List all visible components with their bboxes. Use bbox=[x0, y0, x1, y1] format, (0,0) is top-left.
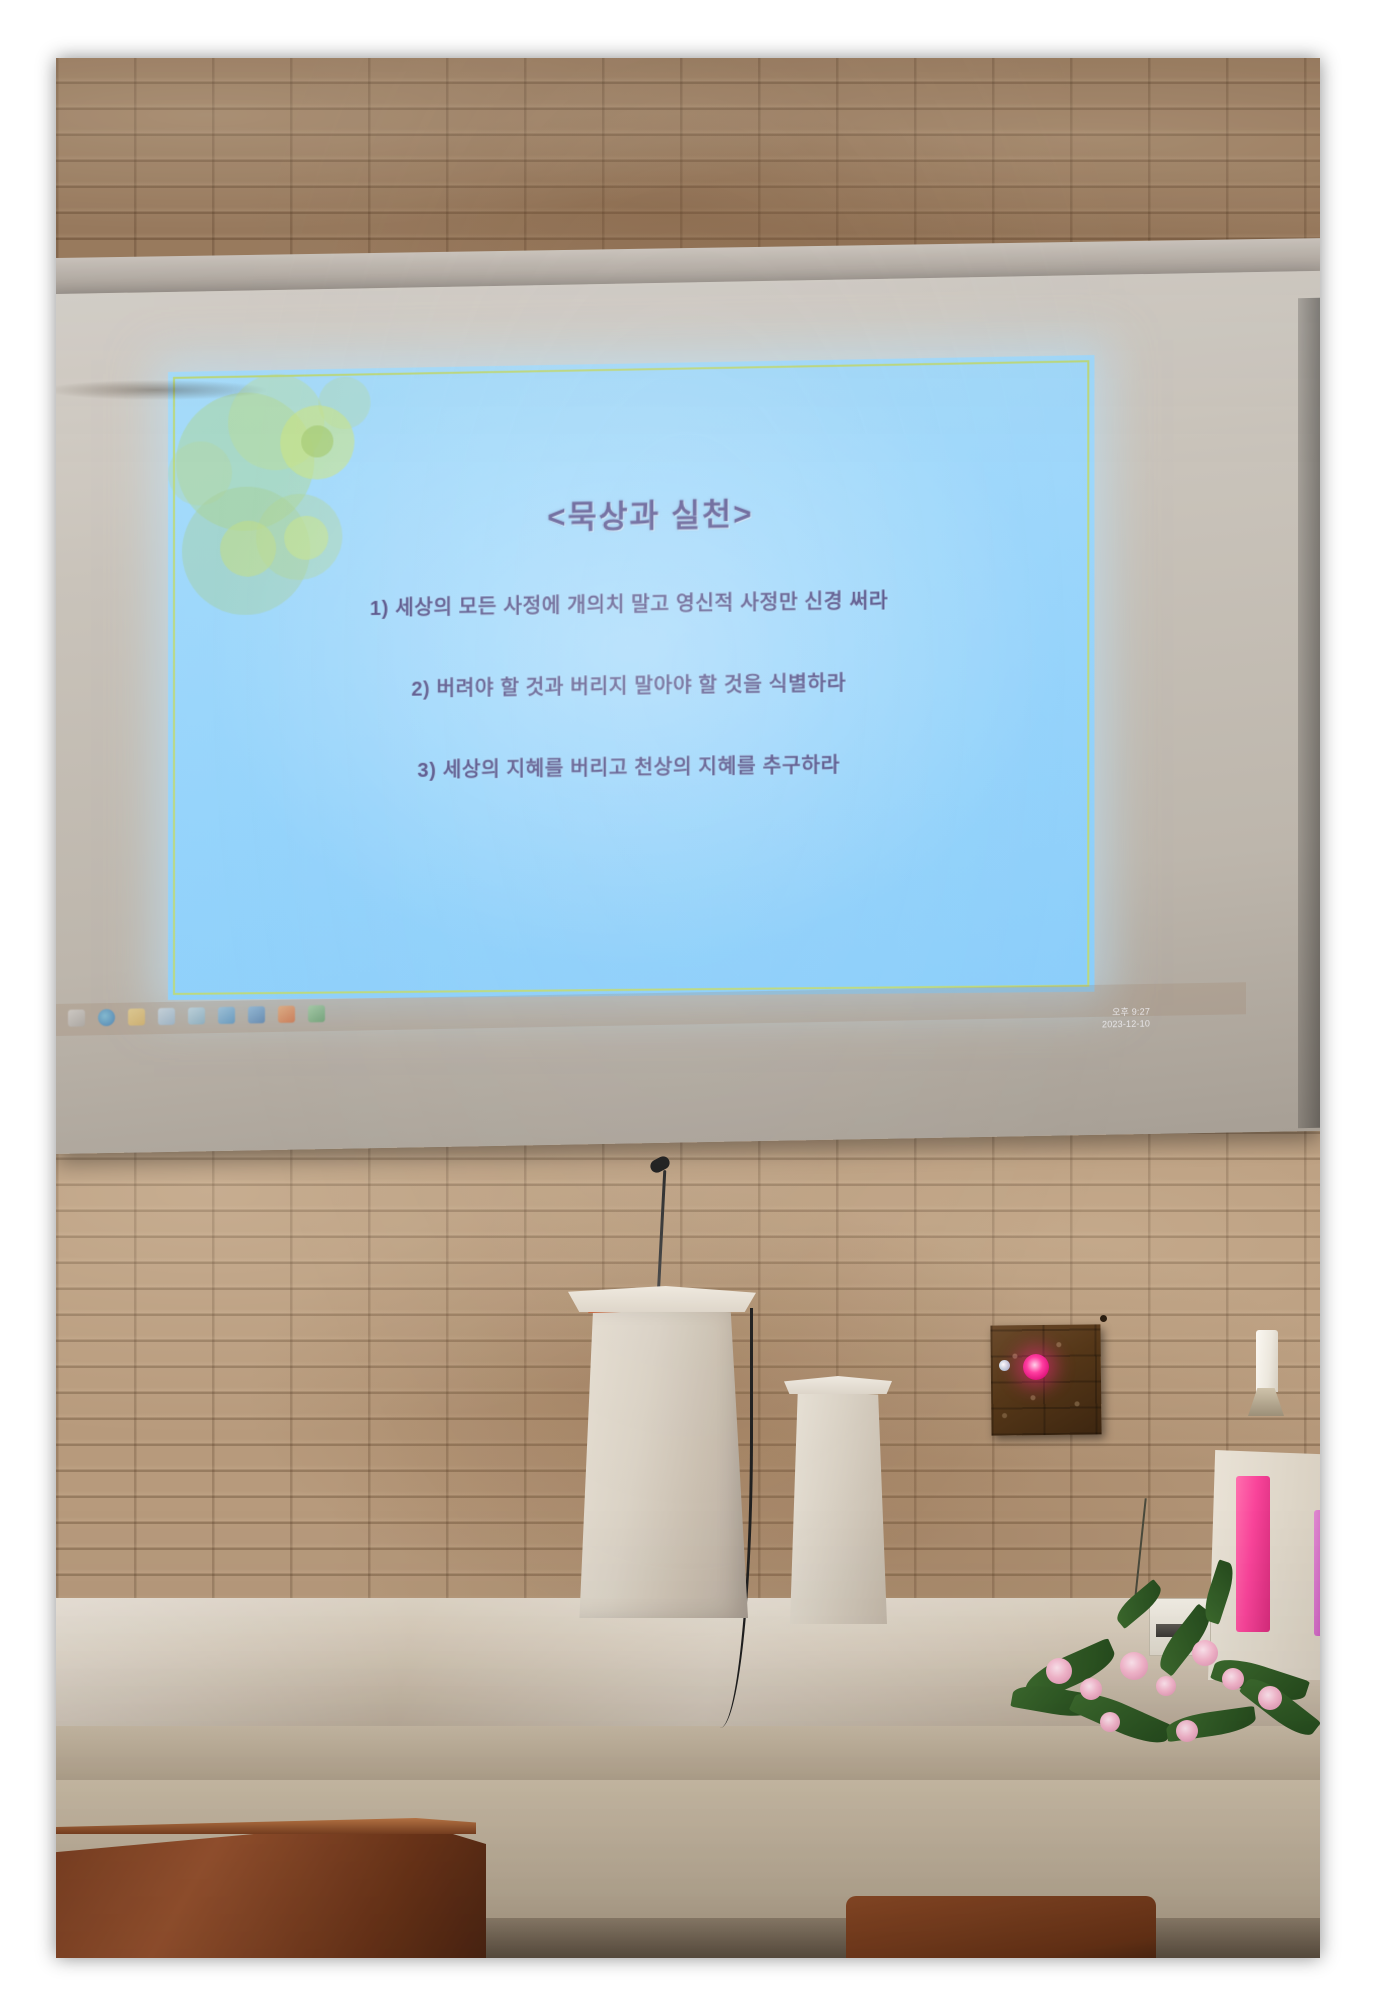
floral-arrangement bbox=[1016, 1536, 1320, 1766]
slide-line-2: 2) 버려야 할 것과 버리지 말아야 할 것을 식별하라 bbox=[168, 663, 1094, 705]
powerpoint-icon[interactable] bbox=[218, 1007, 235, 1024]
lamp-bracket-icon bbox=[999, 1360, 1010, 1371]
app-icon[interactable] bbox=[308, 1005, 325, 1022]
edge-browser-icon[interactable] bbox=[98, 1009, 115, 1026]
blossom-icon bbox=[1176, 1720, 1198, 1742]
sanctuary-lamp-icon bbox=[1023, 1354, 1049, 1380]
blossom-icon bbox=[1192, 1640, 1218, 1666]
photo-frame: <묵상과 실천> 1) 세상의 모든 사정에 개의치 말고 영신적 사정만 신경… bbox=[0, 0, 1376, 2016]
mail-icon[interactable] bbox=[188, 1007, 205, 1024]
projection-screen-edge-shadow bbox=[1298, 298, 1320, 1128]
side-stand-top-surface bbox=[784, 1376, 892, 1394]
ambo-top-surface bbox=[568, 1286, 756, 1312]
blossom-icon bbox=[1080, 1678, 1102, 1700]
leaf-icon bbox=[1112, 1579, 1166, 1629]
ambo-podium bbox=[568, 1286, 756, 1616]
slide-content: <묵상과 실천> 1) 세상의 모든 사정에 개의치 말고 영신적 사정만 신경… bbox=[168, 355, 1094, 1000]
blossom-icon bbox=[1222, 1668, 1244, 1690]
lamp-hook-icon bbox=[1100, 1315, 1107, 1322]
side-stand bbox=[784, 1376, 892, 1624]
leaf-icon bbox=[1200, 1559, 1238, 1624]
tabernacle-texture bbox=[990, 1324, 1101, 1435]
store-icon[interactable] bbox=[158, 1008, 175, 1025]
taskbar-clock[interactable]: 오후 9:27 2023-12-10 bbox=[1102, 1006, 1150, 1031]
media-player-icon[interactable] bbox=[278, 1006, 295, 1023]
blossom-icon bbox=[1046, 1658, 1072, 1684]
side-stand-body bbox=[789, 1390, 887, 1624]
blossom-icon bbox=[1156, 1676, 1176, 1696]
clock-date: 2023-12-10 bbox=[1102, 1018, 1150, 1031]
blossom-icon bbox=[1258, 1686, 1282, 1710]
slide-line-1: 1) 세상의 모든 사정에 개의치 말고 영신적 사정만 신경 써라 bbox=[168, 581, 1094, 624]
wooden-pew bbox=[846, 1896, 1156, 1958]
ambo-shadow bbox=[56, 380, 266, 400]
file-explorer-icon[interactable] bbox=[128, 1008, 145, 1025]
blossom-icon bbox=[1100, 1712, 1120, 1732]
projected-slide: <묵상과 실천> 1) 세상의 모든 사정에 개의치 말고 영신적 사정만 신경… bbox=[168, 355, 1094, 1000]
blossom-icon bbox=[1120, 1652, 1148, 1680]
slide-line-3: 3) 세상의 지혜를 버리고 천상의 지혜를 추구하라 bbox=[168, 745, 1094, 786]
taskbar-icon-group bbox=[68, 1005, 325, 1027]
clock-time: 오후 9:27 bbox=[1102, 1006, 1150, 1019]
ambo-body bbox=[576, 1306, 748, 1618]
photograph: <묵상과 실천> 1) 세상의 모든 사정에 개의치 말고 영신적 사정만 신경… bbox=[56, 58, 1320, 1958]
wall-tabernacle-plaque bbox=[990, 1324, 1101, 1435]
task-view-icon[interactable] bbox=[68, 1009, 85, 1026]
slide-title: <묵상과 실천> bbox=[212, 483, 1094, 543]
teams-icon[interactable] bbox=[248, 1006, 265, 1023]
white-candle bbox=[1256, 1330, 1278, 1392]
